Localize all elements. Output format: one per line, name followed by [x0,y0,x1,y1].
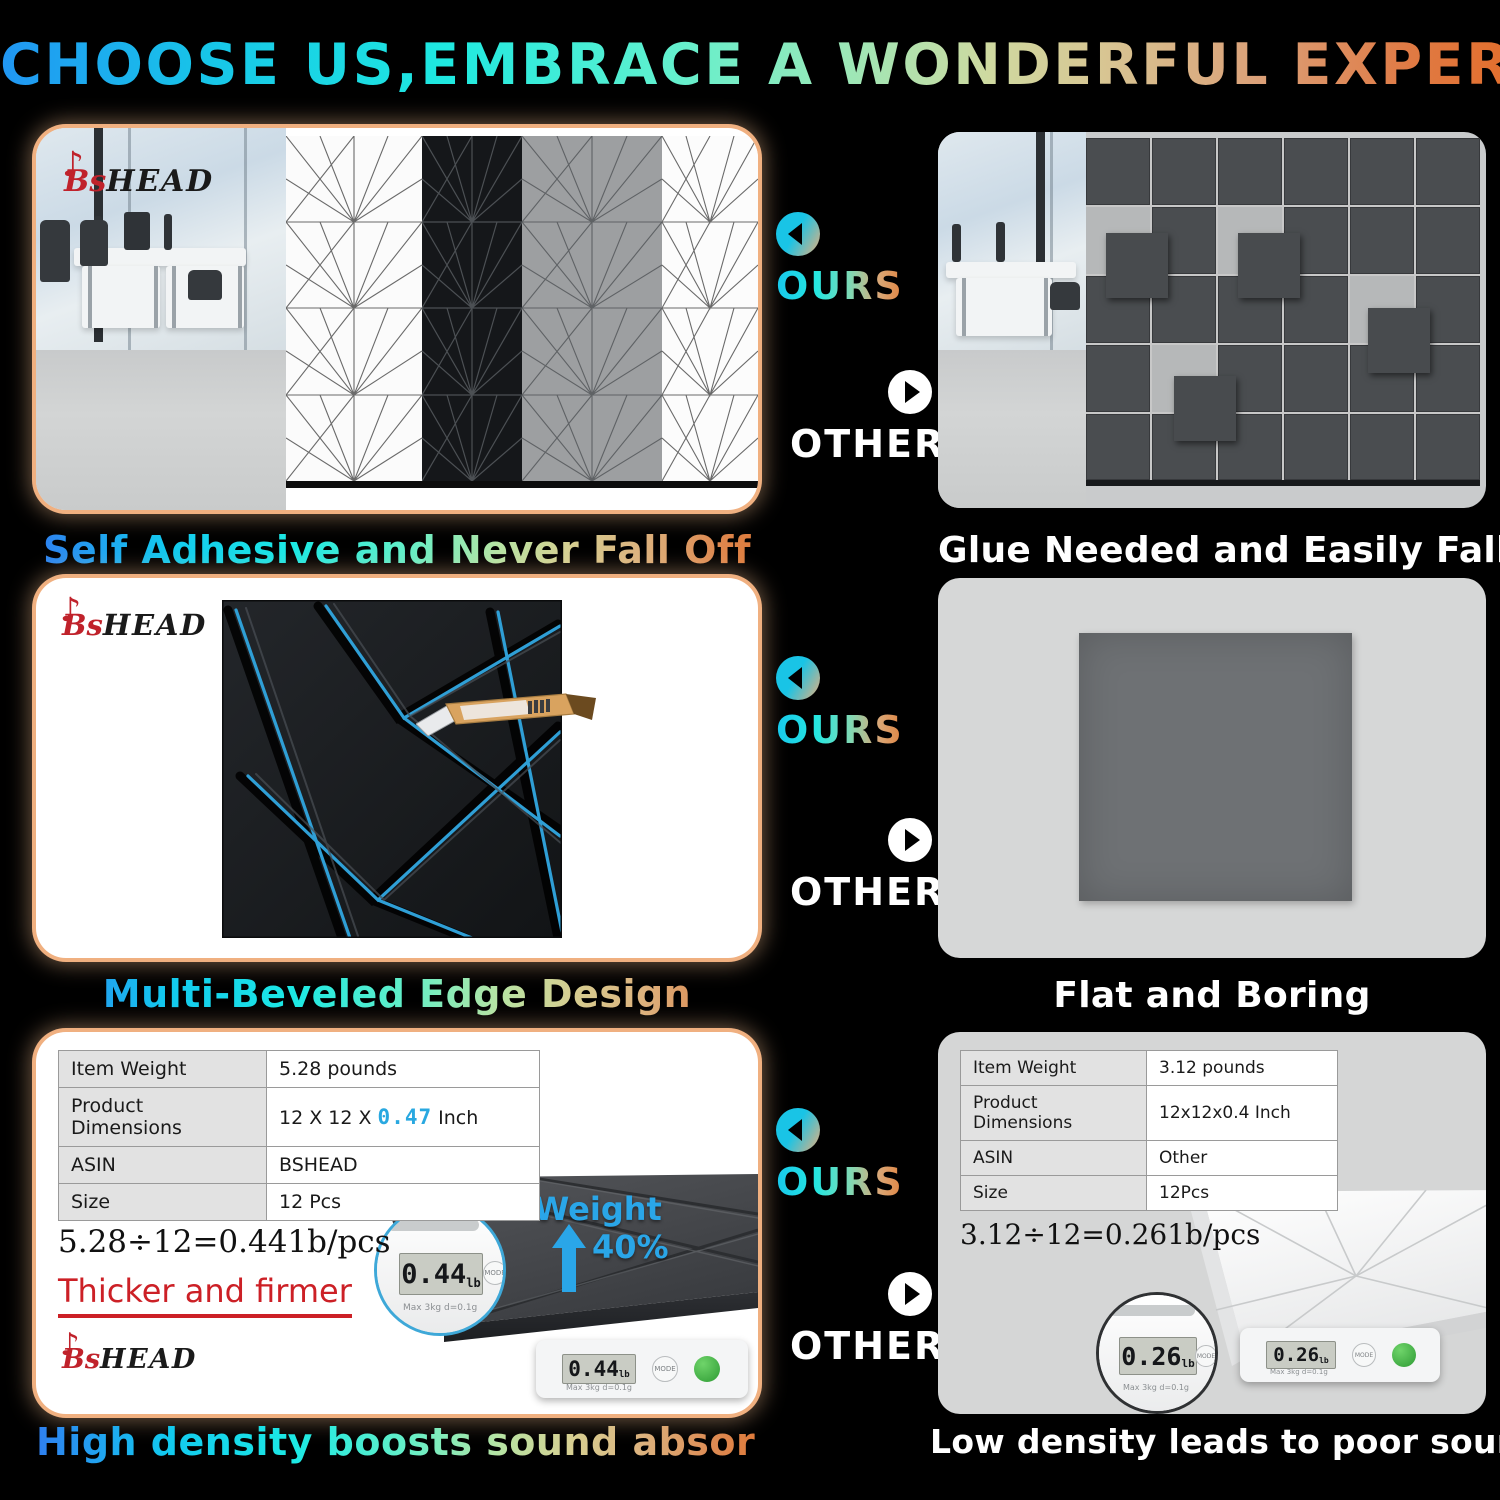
scale-unit-others: lb [1181,1357,1194,1370]
brand-mark: Bs [62,608,103,642]
table-row: Product Dimensions 12 X 12 X 0.47 Inch [59,1088,540,1147]
window-mullion [244,128,247,365]
scale-max-ours: Max 3kg d=0.1g [403,1303,477,1313]
mode-button-others[interactable]: MODE [1352,1343,1376,1367]
brand-name: HEAD [103,608,207,642]
brand-mark: Bs [62,1344,100,1375]
spec-key: Size [961,1176,1147,1211]
others-caption-row1: Glue Needed and Easily Fall Off [938,530,1486,571]
ours-card-row1: Bs HEAD [36,128,758,510]
panel-column-black [422,136,522,481]
ours-label: OURS [776,1160,904,1204]
falling-tile [1368,308,1430,373]
scale-lcd-zoom: 0.44lb [399,1253,483,1295]
desk-leg [172,266,176,328]
spec-key: Product Dimensions [961,1086,1147,1141]
scale-handle-zoom [1109,1305,1195,1316]
brand-name: HEAD [106,164,214,199]
scale-reading-small-others: 0.26 [1273,1344,1319,1366]
scale-lcd-zoom-others: 0.26lb [1119,1337,1197,1375]
table-row: Size 12Pcs [961,1176,1338,1211]
utility-knife-icon [416,690,596,747]
thicker-note: Thicker and firmer [58,1272,352,1318]
spec-key: ASIN [961,1141,1147,1176]
falling-tile [1238,233,1300,298]
scale-magnifier-ours: 0.44lb MODE Max 3kg d=0.1g [374,1204,506,1336]
office-floor [36,350,286,510]
table-row: Item Weight 5.28 pounds [59,1051,540,1088]
spec-value-dimensions: 12 X 12 X 0.47 Inch [267,1088,540,1147]
spec-value: BSHEAD [267,1147,540,1184]
desk-leg [88,266,92,328]
others-caption-row3: Low density leads to poor sound absorpti… [930,1422,1490,1461]
scale-magnifier-others: 0.26lb MODE Max 3kg d=0.1g [1096,1292,1218,1414]
spec-value: 3.12 pounds [1147,1051,1338,1086]
brand-name: HEAD [100,1344,197,1375]
weight-callout-line1: Weight [534,1190,662,1228]
scale-unit-small-ours: lb [619,1370,630,1380]
desk-leg [154,266,158,328]
beveled-acoustic-panel [222,600,562,938]
spec-value: 12 Pcs [267,1184,540,1221]
ours-card-row3: Weight 40% 0.44lb MODE Max 3kg d=0.1g 0.… [36,1032,758,1414]
ours-label: OURS [776,264,904,308]
monitor [124,212,150,250]
desk-leg [1044,278,1048,336]
mode-button-ours[interactable]: MODE [652,1356,678,1382]
power-button-others[interactable] [1392,1343,1416,1367]
dim-highlight: 0.47 [378,1105,433,1129]
office-desk [956,278,1052,336]
circle-right-arrow-icon [888,1272,932,1316]
spec-key: ASIN [59,1147,267,1184]
office-photo-others-row1 [938,132,1086,508]
table-row: Item Weight 3.12 pounds [961,1051,1338,1086]
infographic-page: CHOOSE US,EMBRACE A WONDERFUL EXPERIENCE [0,0,1500,1500]
ours-marker-row3: OURS [776,1108,904,1204]
panel-column-gray [522,136,662,481]
spec-value: 5.28 pounds [267,1051,540,1088]
geometric-panel-wall [286,136,758,481]
brand-mark: Bs [64,164,106,199]
panel-column-white-2 [662,136,758,481]
table-row: ASIN BSHEAD [59,1147,540,1184]
ours-label: OURS [776,708,904,752]
power-button-ours[interactable] [694,1356,720,1382]
scale-unit-small-others: lb [1319,1356,1329,1365]
dim-prefix: 12 X 12 X [279,1107,378,1129]
wall-tile [1350,207,1414,274]
circle-left-arrow-icon [776,656,820,700]
scale-reading-ours: 0.44 [401,1259,466,1290]
kitchen-scale-others: 0.26lb MODE Max 3kg d=0.1g [1240,1328,1440,1382]
wall-tile [1350,414,1414,480]
scale-max-others: Max 3kg d=0.1g [1123,1383,1189,1392]
monitor [952,224,961,262]
scale-max-small-others: Max 3kg d=0.1g [1270,1368,1328,1376]
spec-value: Other [1147,1141,1338,1176]
wall-tile [1416,138,1480,205]
office-chair [188,270,222,300]
calc-text-others: 3.12÷12=0.261b/pcs [960,1218,1260,1251]
wall-tile [1086,414,1150,480]
brand-logo: Bs HEAD [62,1344,197,1375]
brand-logo: Bs HEAD [62,608,207,642]
desk-leg [238,266,242,328]
others-card-row2 [938,578,1486,958]
ours-caption-row2: Multi-Beveled Edge Design [36,972,758,1016]
ours-marker-row2: OURS [776,656,904,752]
ours-card-row2: Bs HEAD [36,578,758,958]
wall-tile [1218,138,1282,205]
brand-logo: Bs HEAD [64,164,214,199]
flat-gray-panel [1079,633,1352,901]
wall-tile [1284,138,1348,205]
spec-key: Item Weight [59,1051,267,1088]
spec-table-others: Item Weight 3.12 pounds Product Dimensio… [960,1050,1338,1211]
desk-leg [962,278,966,336]
monitor [164,214,172,250]
wall-base-shadow [286,481,758,488]
others-card-row3: Item Weight 3.12 pounds Product Dimensio… [938,1032,1486,1414]
wall-tile [1284,345,1348,412]
others-card-row1 [938,132,1486,508]
square-tile-wall [1086,138,1480,480]
scale-lcd-others: 0.26lb [1266,1341,1336,1369]
wall-tile [1416,414,1480,480]
scale-unit-ours: lb [466,1276,480,1290]
office-chair [1050,282,1080,310]
office-desk [946,262,1076,278]
office-floor [938,350,1086,508]
circle-left-arrow-icon [776,212,820,256]
page-title: CHOOSE US,EMBRACE A WONDERFUL EXPERIENCE [0,32,1500,98]
spec-value: 12Pcs [1147,1176,1338,1211]
circle-right-arrow-icon [888,370,932,414]
wall-tile [1086,345,1150,412]
table-row: Product Dimensions 12x12x0.4 Inch [961,1086,1338,1141]
table-row: Size 12 Pcs [59,1184,540,1221]
wall-tile [1086,138,1150,205]
spec-key: Size [59,1184,267,1221]
wall-tile [1152,138,1216,205]
ours-marker-row1: OURS [776,212,904,308]
wall-tile [1350,138,1414,205]
scale-reading-others: 0.26 [1121,1342,1181,1371]
spec-table-ours: Item Weight 5.28 pounds Product Dimensio… [58,1050,540,1221]
scale-reading-small-ours: 0.44 [568,1357,619,1381]
office-chair [80,220,108,266]
weight-callout-line2: 40% [592,1228,669,1266]
mode-button-zoom[interactable]: MODE [483,1261,506,1285]
monitor [996,222,1005,262]
wall-tile [1416,207,1480,274]
kitchen-scale-ours: 0.44lb MODE Max 3kg d=0.1g [536,1340,748,1398]
circle-left-arrow-icon [776,1108,820,1152]
dim-suffix: Inch [432,1107,478,1129]
spec-value: 12x12x0.4 Inch [1147,1086,1338,1141]
calc-text-ours: 5.28÷12=0.441b/pcs [58,1224,391,1260]
spec-key: Product Dimensions [59,1088,267,1147]
ours-caption-row3: High density boosts sound absorption [36,1420,758,1464]
table-row: ASIN Other [961,1141,1338,1176]
scale-max-small-ours: Max 3kg d=0.1g [566,1383,632,1392]
up-arrow-icon [552,1224,586,1297]
mode-button-zoom-others[interactable]: MODE [1195,1345,1217,1367]
circle-right-arrow-icon [888,818,932,862]
office-desk [82,266,160,328]
scale-lcd-ours: 0.44lb [562,1354,636,1384]
spec-key: Item Weight [961,1051,1147,1086]
office-chair [40,220,70,282]
wall-tile [1284,414,1348,480]
panel-column-white [286,136,422,481]
tilewall-base-shadow [1086,480,1480,486]
falling-tile [1174,376,1236,441]
falling-tile [1106,233,1168,298]
others-caption-row2: Flat and Boring [938,975,1486,1016]
ours-caption-row1: Self Adhesive and Never Fall Off [36,528,758,572]
